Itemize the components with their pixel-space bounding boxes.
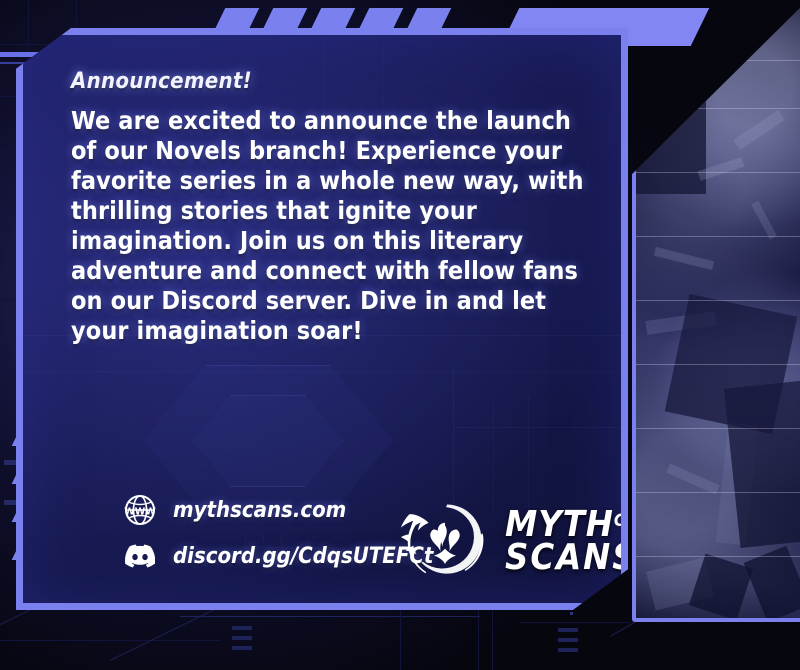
circuit-chip bbox=[558, 638, 578, 642]
panel-line bbox=[23, 371, 628, 372]
footer-links: WWW mythscans.com discord.gg/CdqsUTEFCt bbox=[123, 487, 433, 579]
brand-name-tld: COM bbox=[614, 514, 628, 530]
discord-link[interactable]: discord.gg/CdqsUTEFCt bbox=[123, 533, 433, 579]
circuit-trace bbox=[180, 616, 480, 617]
circuit-chip bbox=[232, 646, 252, 650]
circuit-trace bbox=[0, 640, 220, 641]
circuit-trace bbox=[520, 622, 630, 623]
brand-logo: MYTH COM SCANS bbox=[391, 493, 628, 589]
dragon-circle-emblem-icon bbox=[391, 493, 499, 589]
website-link-label: mythscans.com bbox=[173, 498, 346, 523]
announcement-body: We are excited to announce the launch of… bbox=[71, 106, 591, 346]
brand-wordmark: MYTH COM SCANS bbox=[505, 508, 628, 574]
globe-www-icon: WWW bbox=[123, 493, 157, 527]
panel-line bbox=[453, 427, 628, 428]
circuit-node bbox=[570, 612, 573, 615]
svg-text:WWW: WWW bbox=[124, 507, 156, 518]
brand-name-bottom: SCANS bbox=[505, 541, 628, 574]
announcement-panel: Announcement! We are excited to announce… bbox=[16, 28, 628, 610]
discord-icon bbox=[123, 539, 157, 573]
announcement-screenshot: Announcement! We are excited to announce… bbox=[0, 0, 800, 670]
website-link[interactable]: WWW mythscans.com bbox=[123, 487, 433, 533]
circuit-chip bbox=[558, 648, 578, 652]
circuit-trace bbox=[400, 600, 401, 670]
circuit-chip bbox=[558, 628, 578, 632]
circuit-chip bbox=[232, 636, 252, 640]
announcement-content: Announcement! We are excited to announce… bbox=[71, 69, 591, 346]
circuit-chip bbox=[232, 626, 252, 630]
announcement-heading: Announcement! bbox=[71, 69, 591, 94]
